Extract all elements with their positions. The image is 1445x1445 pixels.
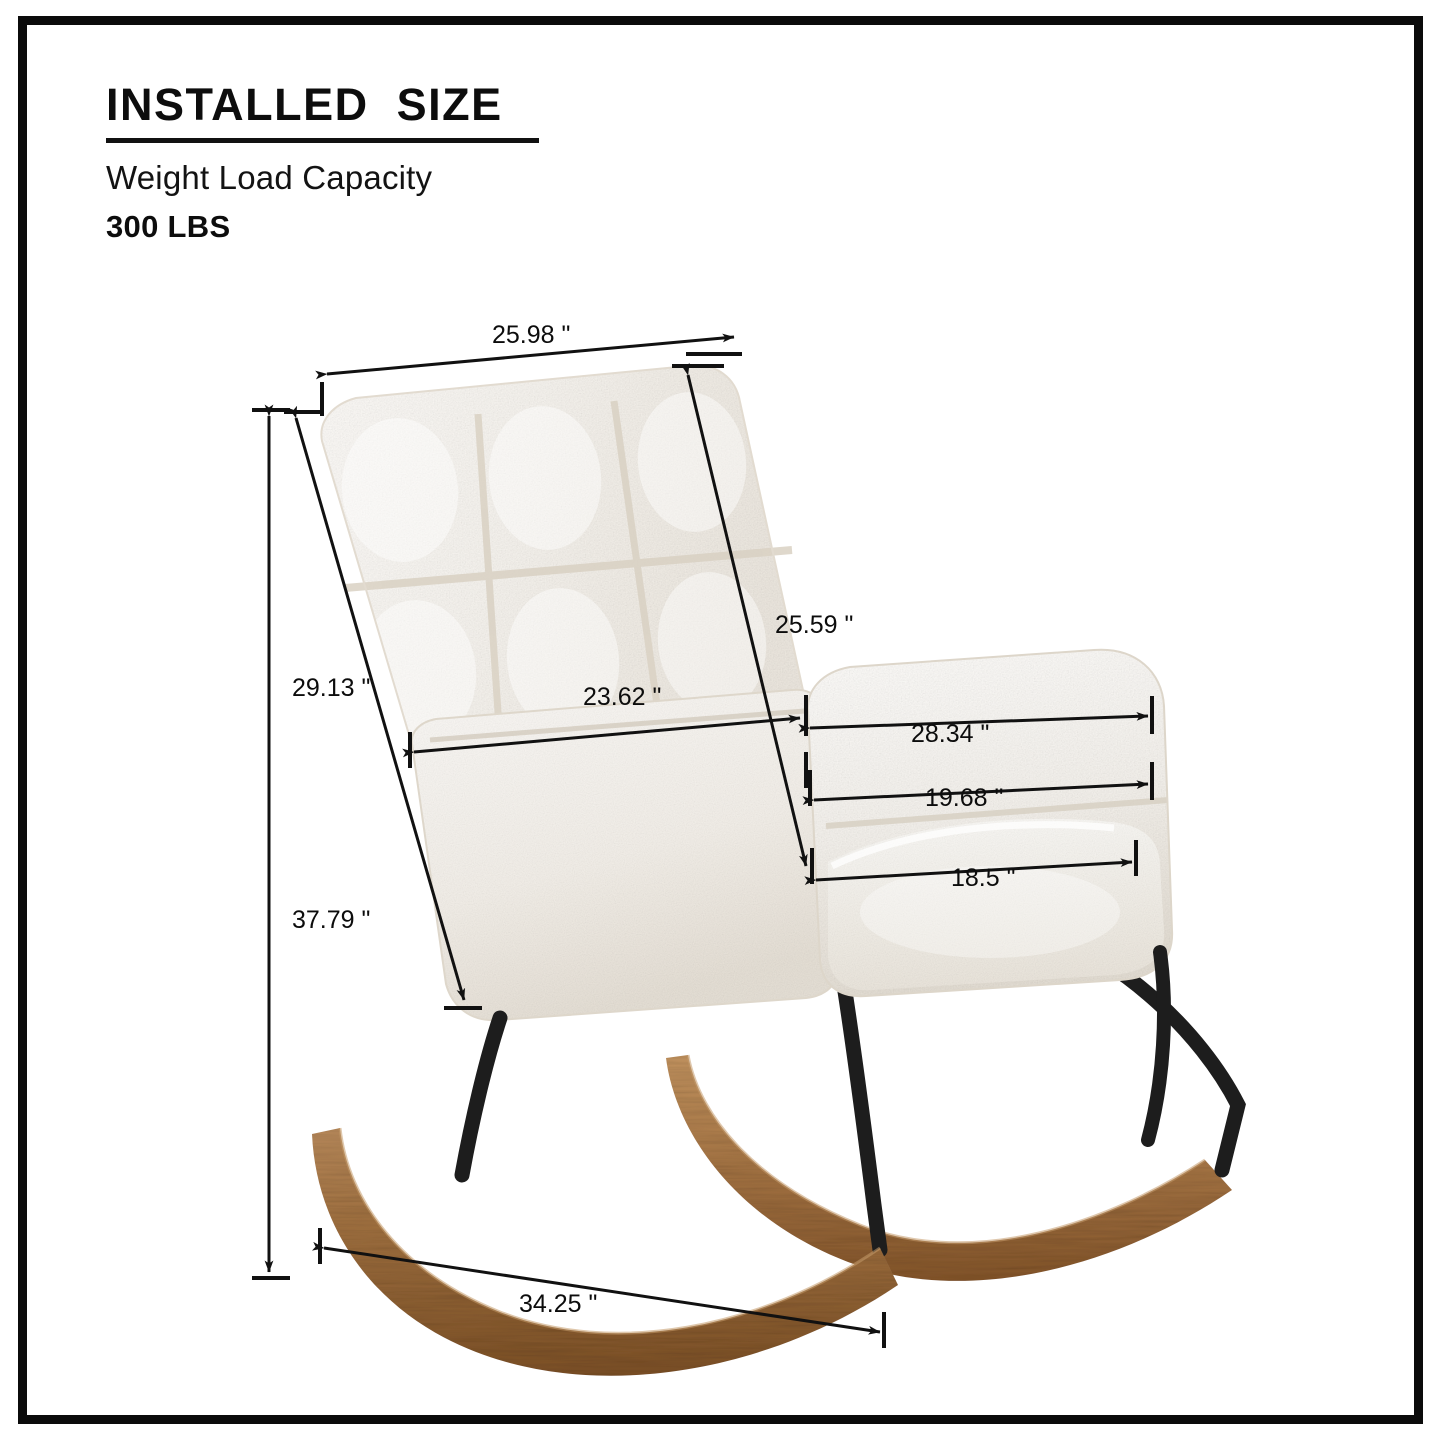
product-dimension-diagram: INSTALLED SIZE Weight Load Capacity 300 … xyxy=(0,0,1445,1445)
weight-capacity-label: Weight Load Capacity xyxy=(106,159,726,197)
page-title: INSTALLED SIZE xyxy=(106,82,726,127)
weight-capacity-value: 300 LBS xyxy=(106,209,726,245)
header-block: INSTALLED SIZE Weight Load Capacity 300 … xyxy=(106,82,726,245)
title-underline xyxy=(106,138,539,143)
